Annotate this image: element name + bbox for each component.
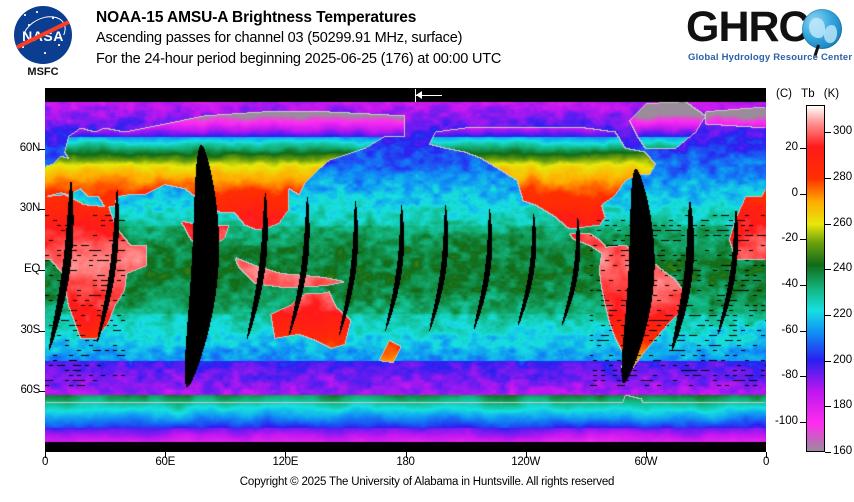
colorbar-tick-celsius [800, 422, 806, 423]
lon-label: 60E [155, 456, 175, 468]
colorbar-tick-celsius [800, 376, 806, 377]
colorbar-tick-celsius [800, 239, 806, 240]
colorbar-label-celsius: -80 [764, 369, 798, 381]
ghrc-logo: GHRC Global Hydrology Resource Center [686, 4, 846, 70]
colorbar-label-kelvin: 160 [833, 445, 852, 457]
colorbar-label-kelvin: 260 [833, 217, 852, 229]
ghrc-tagline: Global Hydrology Resource Center [688, 52, 852, 63]
colorbar-tick-kelvin [825, 132, 831, 133]
colorbar-header: (C) Tb (K) [776, 88, 854, 100]
nasa-logo: NASA MSFC [14, 6, 76, 68]
colorbar-tick-kelvin [825, 269, 831, 270]
lon-label: 60W [634, 456, 657, 468]
colorbar-label-kelvin: 300 [833, 125, 852, 137]
colorbar-gradient [807, 106, 824, 451]
colorbar-tick-kelvin [825, 406, 831, 407]
colorbar-variable: Tb [801, 88, 814, 100]
nasa-meatball-icon: NASA [14, 6, 72, 64]
colorbar-label-celsius: -60 [764, 324, 798, 336]
colorbar-label-celsius: 0 [764, 187, 798, 199]
subtitle-period: For the 24-hour period beginning 2025-06… [96, 49, 656, 70]
colorbar-label-kelvin: 180 [833, 399, 852, 411]
colorbar-tick-kelvin [825, 224, 831, 225]
colorbar-tick-celsius [800, 331, 806, 332]
colorbar[interactable] [806, 105, 825, 452]
lon-label: 120W [511, 456, 540, 468]
colorbar-label-celsius: 20 [764, 141, 798, 153]
lon-label: 120E [272, 456, 298, 468]
title-block: NOAA-15 AMSU-A Brightness Temperatures A… [96, 8, 656, 70]
colorbar-units-kelvin: (K) [824, 88, 839, 100]
colorbar-tick-kelvin [825, 452, 831, 453]
page-title: NOAA-15 AMSU-A Brightness Temperatures [96, 8, 656, 28]
colorbar-tick-celsius [800, 148, 806, 149]
colorbar-tick-kelvin [825, 361, 831, 362]
colorbar-label-kelvin: 200 [833, 354, 852, 366]
colorbar-label-celsius: -20 [764, 232, 798, 244]
colorbar-tick-kelvin [825, 178, 831, 179]
colorbar-label-celsius: -100 [764, 415, 798, 427]
copyright-notice: Copyright © 2025 The University of Alaba… [0, 476, 854, 488]
colorbar-label-kelvin: 240 [833, 262, 852, 274]
colorbar-units-celsius: (C) [776, 88, 792, 100]
screenshot-root: NASA MSFC NOAA-15 AMSU-A Brightness Temp… [0, 0, 854, 502]
lat-label: 60S [0, 384, 40, 396]
lon-label: 0 [42, 456, 48, 468]
lon-label: 180 [396, 456, 414, 468]
colorbar-tick-celsius [800, 285, 806, 286]
colorbar-tick-celsius [800, 194, 806, 195]
colorbar-tick-kelvin [825, 315, 831, 316]
colorbar-label-kelvin: 220 [833, 308, 852, 320]
globe-icon [802, 9, 842, 49]
lat-label: 30S [0, 324, 40, 336]
colorbar-label-celsius: -40 [764, 278, 798, 290]
colorbar-label-kelvin: 280 [833, 171, 852, 183]
nasa-center-label: MSFC [14, 66, 72, 78]
lat-label: 60N [0, 142, 40, 154]
lat-label: EQ [0, 263, 40, 275]
subtitle-channel: Ascending passes for channel 03 (50299.9… [96, 28, 656, 49]
cursor-pointer-marker [408, 89, 442, 103]
ghrc-wordmark: GHRC [686, 4, 809, 50]
lon-label: 0 [763, 456, 769, 468]
lat-label: 30N [0, 202, 40, 214]
map-raster [45, 88, 766, 452]
brightness-temperature-map[interactable] [45, 88, 766, 452]
